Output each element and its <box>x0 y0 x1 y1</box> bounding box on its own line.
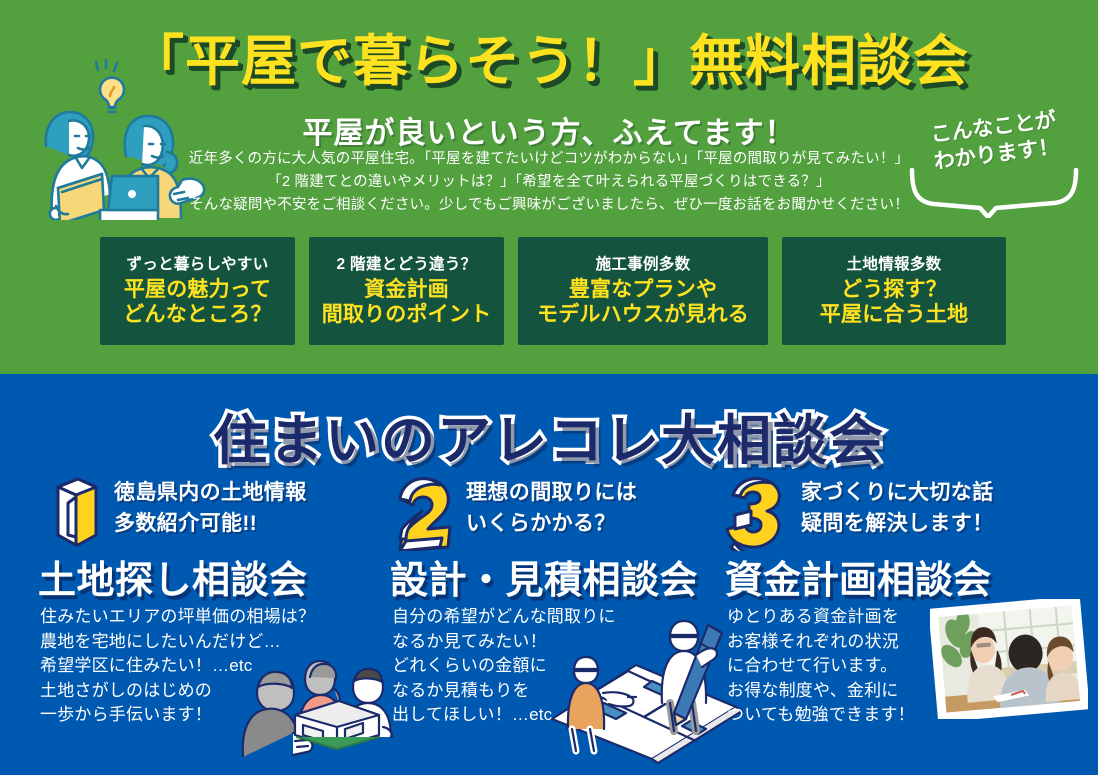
feature-box-1-main: 平屋の魅力って どんなところ？ <box>123 277 271 327</box>
top-green-section: 「平屋で暮らそう！」無料相談会 平屋が良いという方、ふえてます！ 近年多くの方に… <box>0 0 1098 374</box>
bubble-bracket-icon <box>908 168 1080 218</box>
consultation-column-2-lines: 理想の間取りには いくらかかる？ <box>466 477 637 539</box>
feature-box-2-line-1: 資金計画 <box>322 277 492 302</box>
feature-box-1-head: ずっと暮らしやすい <box>126 252 268 274</box>
feature-box-1[interactable]: ずっと暮らしやすい 平屋の魅力って どんなところ？ <box>100 237 295 345</box>
callout-bubble: こんなことが わかります！ <box>906 110 1084 222</box>
feature-box-4[interactable]: 土地情報多数 どう探す？ 平屋に合う土地 <box>782 237 1006 345</box>
consultation-column-1-head: 徳島県内の土地情報 多数紹介可能!! <box>38 477 386 555</box>
section-title: 住まいのアレコレ大相談会 <box>0 396 1098 475</box>
consultation-column-2-line-1: 理想の間取りには <box>466 477 637 508</box>
floorplan-people-pencil-icon <box>540 607 745 767</box>
consultation-column-2-head: 理想の間取りには いくらかかる？ <box>390 477 738 555</box>
feature-box-4-head: 土地情報多数 <box>847 252 942 274</box>
consultation-column-1-line-1: 徳島県内の土地情報 <box>114 477 307 508</box>
page-title: 「平屋で暮らそう！」無料相談会 <box>0 16 1098 96</box>
consultation-column-3-body-line-5: ついても勉強できます！ <box>727 703 915 728</box>
consultation-column-3-body-line-2: お客様それぞれの状況 <box>727 630 915 655</box>
feature-box-3-line-2: モデルハウスが見れる <box>537 302 749 327</box>
feature-box-1-line-2: どんなところ？ <box>123 302 271 327</box>
consultation-column-1-line-2: 多数紹介可能!! <box>114 508 307 539</box>
feature-box-4-line-1: どう探す？ <box>820 277 968 302</box>
consultation-column-1-lines: 徳島県内の土地情報 多数紹介可能!! <box>114 477 307 539</box>
number-1-badge-icon <box>38 473 104 551</box>
feature-box-list: ずっと暮らしやすい 平屋の魅力って どんなところ？ 2 階建とどう違う？ 資金計… <box>100 237 1006 345</box>
number-3-badge-icon <box>725 473 791 551</box>
feature-box-3-line-1: 豊富なプランや <box>537 277 749 302</box>
consultation-column-3-line-1: 家づくりに大切な話 <box>801 477 994 508</box>
feature-box-3[interactable]: 施工事例多数 豊富なプランや モデルハウスが見れる <box>518 237 768 345</box>
consultation-column-3-body-line-4: お得な制度や、金利に <box>727 679 915 704</box>
feature-box-4-main: どう探す？ 平屋に合う土地 <box>820 277 968 327</box>
consultation-column-3-body-line-3: に合わせて行います。 <box>727 654 915 679</box>
consultation-column-3: 家づくりに大切な話 疑問を解決します！ 資金計画相談会 ゆとりある資金計画を お… <box>725 477 1073 775</box>
feature-box-1-line-1: 平屋の魅力って <box>123 277 271 302</box>
consultation-column-list: 徳島県内の土地情報 多数紹介可能!! 土地探し相談会 住みたいエリアの坪単価の相… <box>0 477 1098 775</box>
consultation-column-2-line-2: いくらかかる？ <box>466 508 637 539</box>
consultation-column-3-title: 資金計画相談会 <box>725 549 991 604</box>
feature-box-2[interactable]: 2 階建とどう違う？ 資金計画 間取りのポイント <box>309 237 504 345</box>
feature-box-2-main: 資金計画 間取りのポイント <box>322 277 492 327</box>
feature-box-3-main: 豊富なプランや モデルハウスが見れる <box>537 277 749 327</box>
consultation-column-1-body-line-1: 住みたいエリアの坪単価の相場は？ <box>40 605 315 630</box>
consultation-column-2-title: 設計・見積相談会 <box>390 549 698 604</box>
feature-box-3-head: 施工事例多数 <box>596 252 691 274</box>
consultation-column-3-head: 家づくりに大切な話 疑問を解決します！ <box>725 477 1073 555</box>
bottom-blue-section: 住まいのアレコレ大相談会 徳島県内の土地情報 多数紹介 <box>0 374 1098 775</box>
consultation-column-1-title: 土地探し相談会 <box>38 549 308 604</box>
consultation-column-3-lines: 家づくりに大切な話 疑問を解決します！ <box>801 477 994 539</box>
feature-box-4-line-2: 平屋に合う土地 <box>820 302 968 327</box>
feature-box-2-head: 2 階建とどう違う？ <box>337 252 477 274</box>
feature-box-2-line-2: 間取りのポイント <box>322 302 492 327</box>
consultation-column-2: 理想の間取りには いくらかかる？ 設計・見積相談会 自分の希望がどんな間取りに … <box>390 477 738 775</box>
flyer-page: 「平屋で暮らそう！」無料相談会 平屋が良いという方、ふえてます！ 近年多くの方に… <box>0 0 1098 775</box>
consultation-column-3-body: ゆとりある資金計画を お客様それぞれの状況 に合わせて行います。 お得な制度や、… <box>727 605 915 728</box>
consultation-column-1: 徳島県内の土地情報 多数紹介可能!! 土地探し相談会 住みたいエリアの坪単価の相… <box>38 477 386 775</box>
consultation-column-3-line-2: 疑問を解決します！ <box>801 508 994 539</box>
consultation-meeting-photo <box>930 599 1088 719</box>
consultation-column-3-body-line-1: ゆとりある資金計画を <box>727 605 915 630</box>
number-2-badge-icon <box>390 473 456 551</box>
three-people-house-model-icon <box>233 637 413 757</box>
